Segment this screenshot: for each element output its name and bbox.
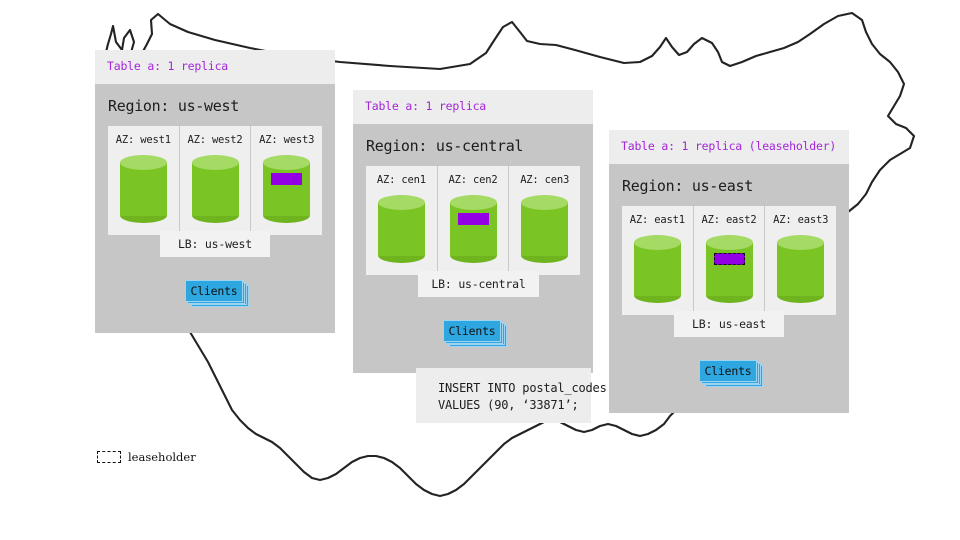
region-panel-us-east: Table a: 1 replica (leaseholder) Region:… <box>609 130 849 413</box>
cylinder-body <box>120 162 167 216</box>
legend-label: leaseholder <box>128 450 196 464</box>
region-header-us-central: Table a: 1 replica <box>353 90 593 124</box>
db-node-east3[interactable] <box>777 235 824 303</box>
cylinder-top <box>450 195 497 210</box>
cylinder-body <box>263 162 310 216</box>
sql-statement-box: INSERT INTO postal_codes VALUES (90, ‘33… <box>416 368 591 423</box>
cylinder-body <box>521 202 568 256</box>
cylinder-body <box>634 242 681 296</box>
az-label-east1: AZ: east1 <box>622 214 693 226</box>
az-row-us-east: AZ: east1 AZ: east2 <box>622 206 836 315</box>
cylinder-body <box>450 202 497 256</box>
cylinder-body <box>777 242 824 296</box>
clients-label[interactable]: Clients <box>443 320 501 342</box>
az-cell-east1[interactable]: AZ: east1 <box>622 206 694 315</box>
leaseholder-swatch-icon <box>97 451 121 463</box>
az-cell-east2[interactable]: AZ: east2 <box>694 206 766 315</box>
region-header-us-east: Table a: 1 replica (leaseholder) <box>609 130 849 164</box>
db-node-east2[interactable] <box>706 235 753 303</box>
db-node-west2[interactable] <box>192 155 239 223</box>
db-node-cen3[interactable] <box>521 195 568 263</box>
az-label-cen2: AZ: cen2 <box>438 174 509 186</box>
az-cell-cen3[interactable]: AZ: cen3 <box>509 166 580 275</box>
az-cell-cen2[interactable]: AZ: cen2 <box>438 166 510 275</box>
cylinder-top <box>378 195 425 210</box>
clients-label[interactable]: Clients <box>699 360 757 382</box>
cylinder-top <box>634 235 681 250</box>
db-node-east1[interactable] <box>634 235 681 303</box>
clients-stack-us-east[interactable]: Clients <box>699 360 763 386</box>
cylinder-body <box>192 162 239 216</box>
db-node-cen2[interactable] <box>450 195 497 263</box>
clients-label[interactable]: Clients <box>185 280 243 302</box>
az-row-us-central: AZ: cen1 AZ: cen2 <box>366 166 580 275</box>
az-cell-west1[interactable]: AZ: west1 <box>108 126 180 235</box>
region-header-us-west: Table a: 1 replica <box>95 50 335 84</box>
clients-stack-us-central[interactable]: Clients <box>443 320 507 346</box>
cylinder-top <box>263 155 310 170</box>
clients-stack-us-west[interactable]: Clients <box>185 280 249 306</box>
az-label-west3: AZ: west3 <box>251 134 322 146</box>
cylinder-top <box>120 155 167 170</box>
az-label-cen1: AZ: cen1 <box>366 174 437 186</box>
load-balancer-us-east[interactable]: LB: us-east <box>674 311 784 337</box>
db-node-west3[interactable] <box>263 155 310 223</box>
cylinder-top <box>706 235 753 250</box>
az-cell-east3[interactable]: AZ: east3 <box>765 206 836 315</box>
db-node-cen1[interactable] <box>378 195 425 263</box>
region-panel-us-central: Table a: 1 replica Region: us-central AZ… <box>353 90 593 373</box>
cylinder-top <box>777 235 824 250</box>
load-balancer-us-central[interactable]: LB: us-central <box>418 271 539 297</box>
az-cell-west2[interactable]: AZ: west2 <box>180 126 252 235</box>
replica-block-west3 <box>271 173 302 185</box>
az-label-west1: AZ: west1 <box>108 134 179 146</box>
az-label-cen3: AZ: cen3 <box>509 174 580 186</box>
replica-block-east2-leaseholder <box>714 253 745 265</box>
load-balancer-us-west[interactable]: LB: us-west <box>160 231 270 257</box>
az-label-east2: AZ: east2 <box>694 214 765 226</box>
region-title-us-east: Region: us-east <box>609 164 849 206</box>
az-cell-cen1[interactable]: AZ: cen1 <box>366 166 438 275</box>
cylinder-body <box>378 202 425 256</box>
cylinder-body <box>706 242 753 296</box>
region-title-us-central: Region: us-central <box>353 124 593 166</box>
cylinder-top <box>192 155 239 170</box>
az-row-us-west: AZ: west1 AZ: west2 <box>108 126 322 235</box>
region-title-us-west: Region: us-west <box>95 84 335 126</box>
db-node-west1[interactable] <box>120 155 167 223</box>
region-panel-us-west: Table a: 1 replica Region: us-west AZ: w… <box>95 50 335 333</box>
legend: leaseholder <box>97 450 196 464</box>
diagram-canvas: 2 Table a: 1 replica Region: us-west AZ:… <box>0 0 960 540</box>
replica-block-cen2 <box>458 213 489 225</box>
az-label-east3: AZ: east3 <box>765 214 836 226</box>
az-cell-west3[interactable]: AZ: west3 <box>251 126 322 235</box>
cylinder-top <box>521 195 568 210</box>
az-label-west2: AZ: west2 <box>180 134 251 146</box>
